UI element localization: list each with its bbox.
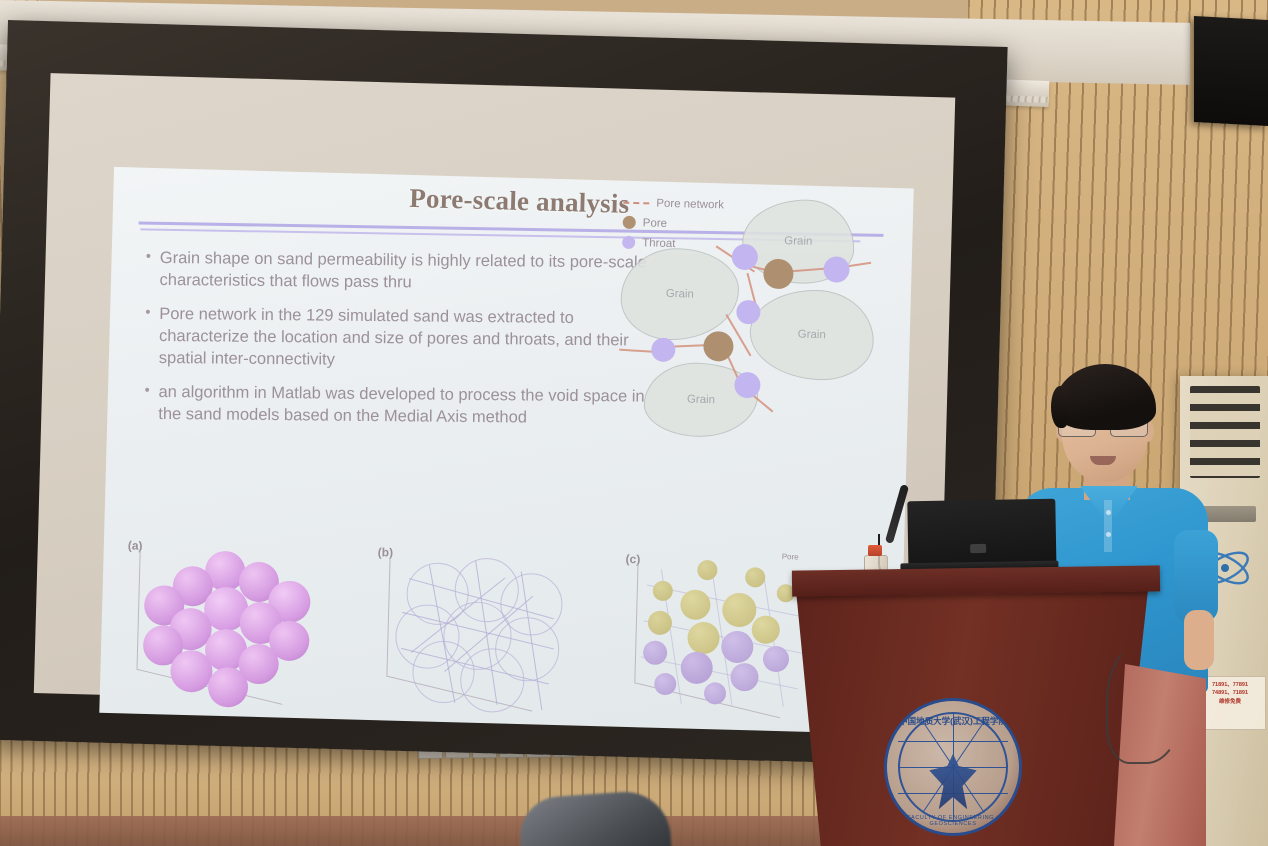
- legend-label: Pore network: [656, 197, 724, 211]
- shirt-button: [1106, 510, 1111, 515]
- panel-c-pore-annotation: Pore: [782, 552, 799, 561]
- pore-network-diagram: Pore network Pore Throat Grain Gra: [610, 185, 913, 463]
- throat-sphere: [721, 631, 754, 664]
- shirt-button: [1106, 532, 1111, 537]
- university-emblem: 中国地质大学(武汉)工程学院 FACULTY OF ENGINEERING · …: [884, 698, 1022, 836]
- laptop-logo-icon: [970, 544, 986, 553]
- pore-sphere: [745, 567, 766, 588]
- pore-sphere: [680, 589, 711, 620]
- pore-sphere: [687, 622, 720, 655]
- presentation-room-scene: 71891、77891 74891、71891 维修免费 Pore-scale …: [0, 0, 1268, 846]
- sand-sphere: [207, 667, 248, 708]
- bullet-item: Grain shape on sand permeability is high…: [145, 248, 665, 297]
- bullet-item: an algorithm in Matlab was developed to …: [144, 381, 664, 430]
- grain-blob: Grain: [620, 247, 740, 342]
- slide-figure-panels: (a): [119, 536, 883, 731]
- legend-row-pore-network: Pore network: [623, 195, 724, 213]
- grain-blob: Grain: [749, 288, 875, 381]
- pore-sphere: [697, 560, 718, 581]
- podium-desktop-surface: [792, 565, 1160, 596]
- throat-sphere: [730, 663, 759, 692]
- presenter-hair: [1054, 364, 1156, 430]
- figure-panel-a: (a): [119, 536, 364, 717]
- emblem-english-text: FACULTY OF ENGINEERING · GEOSCIENCES: [887, 815, 1019, 827]
- panel-a-axes: [136, 551, 345, 704]
- pore-network-line-icon: [623, 201, 649, 204]
- figure-panel-b: (b): [369, 543, 614, 724]
- throat-sphere: [704, 682, 727, 705]
- baseboard: [0, 816, 880, 846]
- ac-sticker-line-2: 74891、71891: [1198, 689, 1262, 697]
- pore-dot-icon: [623, 216, 636, 229]
- bottle-cap: [868, 545, 882, 556]
- legend-row-pore: Pore: [623, 215, 724, 233]
- pore-sphere: [653, 581, 674, 602]
- presenter-shirt-placket: [1104, 500, 1112, 552]
- power-cable: [1106, 640, 1184, 764]
- slide-bullet-list: Grain shape on sand permeability is high…: [144, 248, 666, 443]
- throat-sphere: [680, 651, 713, 684]
- pore-sphere: [722, 593, 757, 628]
- bullet-item: Pore network in the 129 simulated sand w…: [145, 304, 666, 375]
- throat-node: [651, 338, 676, 363]
- throat-dot-icon: [622, 236, 635, 249]
- throat-sphere: [763, 646, 790, 673]
- pore-sphere: [751, 615, 780, 644]
- legend-label: Pore: [643, 217, 668, 230]
- pore-node: [763, 259, 794, 290]
- pore-sphere: [648, 611, 673, 636]
- throat-node: [823, 256, 850, 283]
- wall-speaker: [1194, 16, 1268, 126]
- panel-b-axes: [386, 558, 595, 711]
- laptop-lid: [907, 499, 1056, 568]
- ac-vent-louvers: [1190, 386, 1260, 478]
- emblem-chinese-text: 中国地质大学(武汉)工程学院: [887, 715, 1019, 727]
- ac-sticker-line-3: 维修免费: [1198, 698, 1262, 706]
